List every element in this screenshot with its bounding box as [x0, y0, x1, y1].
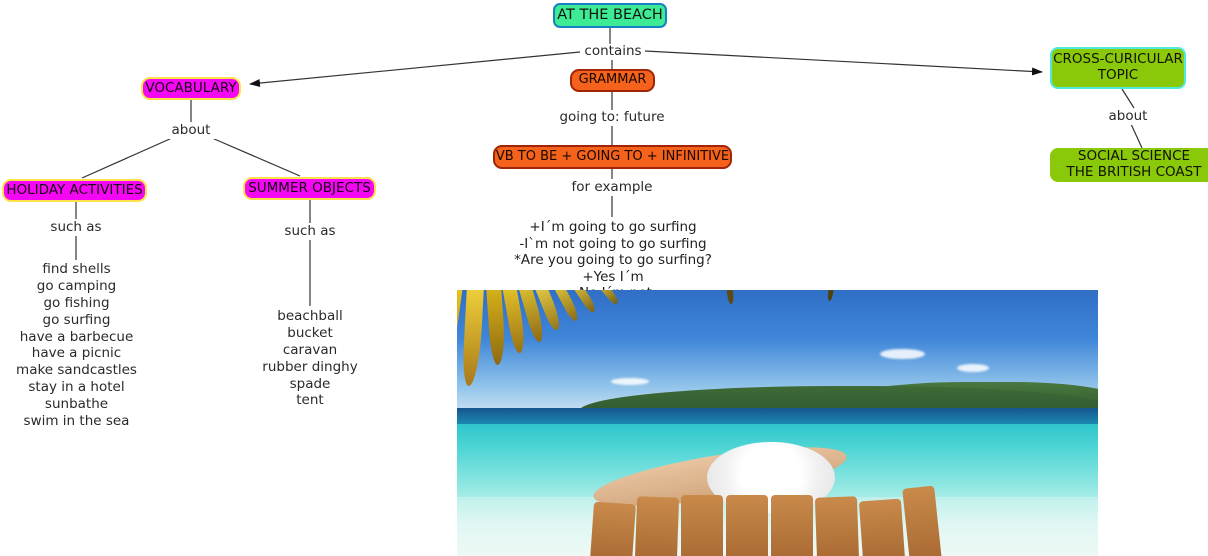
list-summer-objects: beachball bucket caravan rubber dinghy s… — [240, 308, 380, 409]
photo-deck-chair — [590, 501, 636, 556]
node-social-science-british-coast[interactable]: SOCIAL SCIENCE THE BRITISH COAST — [1050, 148, 1208, 182]
node-holiday-activities[interactable]: HOLIDAY ACTIVITIES — [2, 179, 147, 202]
node-grammar[interactable]: GRAMMAR — [570, 69, 655, 92]
photo-cloud — [880, 349, 925, 360]
link-label-for-example: for example — [566, 180, 658, 196]
link-label-about-cross-curricular: about — [1100, 109, 1156, 125]
photo-deck-chair — [681, 495, 723, 556]
list-holiday-activities: find shells go camping go fishing go sur… — [6, 261, 147, 430]
concept-map-canvas: AT THE BEACH VOCABULARY GRAMMAR CROSS-CU… — [0, 0, 1208, 556]
node-at-the-beach[interactable]: AT THE BEACH — [553, 3, 667, 28]
node-vocabulary[interactable]: VOCABULARY — [141, 77, 241, 100]
photo-deck-chair — [771, 495, 813, 556]
photo-cloud — [611, 378, 649, 385]
node-summer-objects[interactable]: SUMMER OBJECTS — [243, 177, 376, 200]
beach-photo — [457, 290, 1098, 556]
link-label-going-to-future: going to: future — [552, 110, 672, 126]
photo-deck-chair — [815, 497, 859, 556]
link-label-such-as-activities: such as — [44, 220, 108, 236]
node-vb-to-be-going-to-infinitive[interactable]: VB TO BE + GOING TO + INFINITIVE — [493, 145, 732, 169]
photo-deck-chair — [726, 495, 768, 556]
link-label-about-vocabulary: about — [163, 123, 219, 139]
photo-deck-chair — [635, 497, 679, 556]
link-label-contains: contains — [584, 44, 642, 60]
photo-deck-chair — [859, 499, 905, 556]
node-cross-curricular-topic[interactable]: CROSS-CURICULAR TOPIC — [1050, 47, 1186, 89]
link-label-such-as-objects: such as — [278, 224, 342, 240]
